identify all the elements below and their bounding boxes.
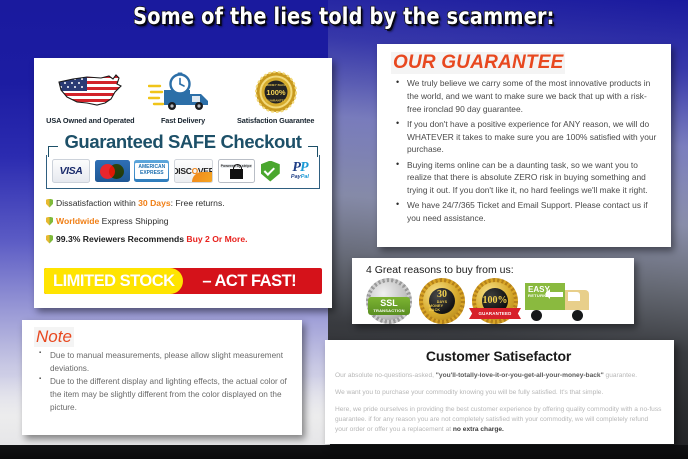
promo-bullet-post: : Free returns.: [171, 198, 225, 208]
bracket-right-decoration: [308, 146, 318, 157]
safe-checkout-title: Guaranteed SAFE Checkout: [64, 131, 301, 152]
guaranteed-ribbon: GUARANTEED: [469, 308, 521, 319]
shield-icon: [46, 217, 53, 226]
trust-badge-satisfaction: 100% MONEY BACK GUARANTEE Satisfaction G…: [229, 71, 322, 125]
promo-bullet-post: Express Shipping: [99, 216, 168, 226]
cust-p1-quote: "you'll-totally-love-it-or-you-get-all-y…: [436, 372, 604, 379]
limited-stock-yellow-pill: LIMITED STOCK: [44, 268, 183, 294]
easy-returns-truck-icon: EASY RETURNS: [525, 281, 591, 321]
bracket-left-decoration: [48, 146, 58, 157]
promo-bullet: Dissatisfaction within 30 Days: Free ret…: [46, 198, 320, 208]
reasons-badge-row: SSL TRANSACTION 30 DAYS MONEY BACK 100%: [360, 278, 626, 324]
page-title: Some of the lies told by the scammer:: [133, 4, 554, 30]
truck-window: [568, 292, 580, 301]
slide-canvas: Some of the lies told by the scammer:: [0, 0, 688, 459]
note-bullet-list: Due to manual measurements, please allow…: [34, 350, 292, 415]
guarantee-bullet: We have 24/7/365 Ticket and Email Suppor…: [407, 199, 661, 225]
note-title: Note: [34, 327, 74, 347]
gold-guarantee-seal-icon: 100% MONEY BACK GUARANTEE: [229, 71, 322, 113]
guarantee-bullet: We truly believe we carry some of the mo…: [407, 77, 661, 115]
percent-label: 100%: [483, 296, 508, 306]
guarantee-bullet: Buying items online can be a daunting ta…: [407, 159, 661, 197]
discover-logo: DISCOVER: [174, 159, 213, 183]
svg-text:GUARANTEE: GUARANTEE: [266, 99, 286, 103]
promo-bullet: Worldwide Express Shipping: [46, 216, 320, 226]
customer-paragraph-2: We want you to purchase your commodity k…: [335, 388, 662, 398]
amex-logo: AMERICANEXPRESS: [134, 160, 169, 182]
trust-badge-usa: USA Owned and Operated: [44, 71, 137, 125]
svg-text:MONEY BACK: MONEY BACK: [265, 83, 287, 87]
promo-bullet-highlight: Buy 2 Or More.: [186, 234, 247, 244]
note-bullet: Due to the different display and lightin…: [50, 376, 292, 414]
cust-p1-pre: Our absolute no-questions-asked,: [335, 372, 436, 379]
guarantee-bullet-list: We truly believe we carry some of the mo…: [391, 77, 661, 225]
mastercard-logo: [95, 160, 130, 182]
usa-map-flag-icon: [44, 71, 137, 113]
promo-bullet-pre: Dissatisfaction within: [56, 198, 138, 208]
svg-text:100%: 100%: [266, 88, 286, 97]
reasons-title: 4 Great reasons to buy from us:: [366, 264, 626, 276]
delivery-truck-stopwatch-icon: [137, 71, 230, 113]
visa-logo: VISA: [52, 159, 90, 183]
act-fast-red-area: – ACT FAST!: [183, 272, 322, 291]
truck-wheel: [572, 310, 583, 321]
guarantee-panel: OUR GUARANTEE We truly believe we carry …: [377, 44, 671, 247]
promo-bullet-highlight: Worldwide: [56, 216, 99, 226]
note-panel: Note Due to manual measurements, please …: [22, 320, 302, 435]
guarantee-bullet: If you don't have a positive experience …: [407, 118, 661, 156]
customer-panel-title: Customer Satisefactor: [335, 348, 662, 364]
trust-badge-delivery: Fast Delivery: [137, 71, 230, 125]
money-back-label: MONEY BACK: [429, 304, 455, 312]
30-days-money-back-seal-icon: 30 DAYS MONEY BACK: [419, 278, 465, 324]
trust-badge-label: USA Owned and Operated: [44, 116, 137, 125]
background-bottom-strip: [0, 445, 688, 459]
limited-stock-banner: LIMITED STOCK – ACT FAST!: [44, 268, 322, 294]
safe-checkout-block: Guaranteed SAFE Checkout VISA AMERICANEX…: [42, 131, 324, 189]
payment-methods-row: VISA AMERICANEXPRESS DISCOVER Powered by…: [46, 155, 320, 189]
note-bullet: Due to manual measurements, please allow…: [50, 350, 292, 375]
stripe-secure-lock-icon: Powered by stripe: [218, 159, 255, 183]
trust-badge-row: USA Owned and Operated: [44, 71, 322, 125]
customer-satisfaction-panel: Customer Satisefactor Our absolute no-qu…: [325, 340, 674, 444]
safe-checkout-heading: Guaranteed SAFE Checkout: [46, 131, 320, 153]
100-percent-guaranteed-seal-icon: 100% GUARANTEED: [472, 278, 518, 324]
ssl-line1: SSL: [380, 299, 398, 308]
cust-p3-strong: no extra charge.: [453, 426, 504, 433]
customer-paragraph-1: Our absolute no-questions-asked, "you'll…: [335, 371, 662, 381]
trust-badge-label: Satisfaction Guarantee: [229, 116, 322, 125]
reasons-panel: 4 Great reasons to buy from us: SSL TRAN…: [352, 258, 634, 324]
promo-bullet-highlight: 30 Days: [138, 198, 171, 208]
act-fast-text: – ACT FAST!: [202, 272, 296, 291]
shield-icon: [46, 235, 53, 244]
ssl-line2: TRANSACTION: [373, 308, 404, 313]
trust-badge-label: Fast Delivery: [137, 116, 230, 125]
ssl-band: SSL TRANSACTION: [368, 297, 410, 315]
cust-p1-post: guarantee.: [604, 372, 637, 379]
days-number: 30: [437, 290, 447, 300]
title-bar: Some of the lies told by the scammer:: [0, 4, 688, 36]
guarantee-title: OUR GUARANTEE: [391, 52, 565, 74]
customer-paragraph-3: Here, we pride ourselves in providing th…: [335, 405, 662, 435]
limited-stock-text: LIMITED STOCK: [53, 272, 175, 291]
truck-wheel: [531, 310, 542, 321]
left-arrow-icon: [546, 292, 563, 297]
promo-bullet-list: Dissatisfaction within 30 Days: Free ret…: [46, 198, 320, 244]
promo-bullet: 99.3% Reviewers Recommends Buy 2 Or More…: [46, 234, 320, 244]
norton-shield-check-icon: [259, 160, 281, 182]
promo-bullet-pre: 99.3% Reviewers Recommends: [56, 234, 186, 244]
ssl-transaction-seal-icon: SSL TRANSACTION: [366, 278, 412, 324]
shield-icon: [46, 199, 53, 208]
seal-core: 30 DAYS MONEY BACK: [429, 288, 455, 314]
paypal-logo: PP PayPal: [286, 160, 314, 182]
